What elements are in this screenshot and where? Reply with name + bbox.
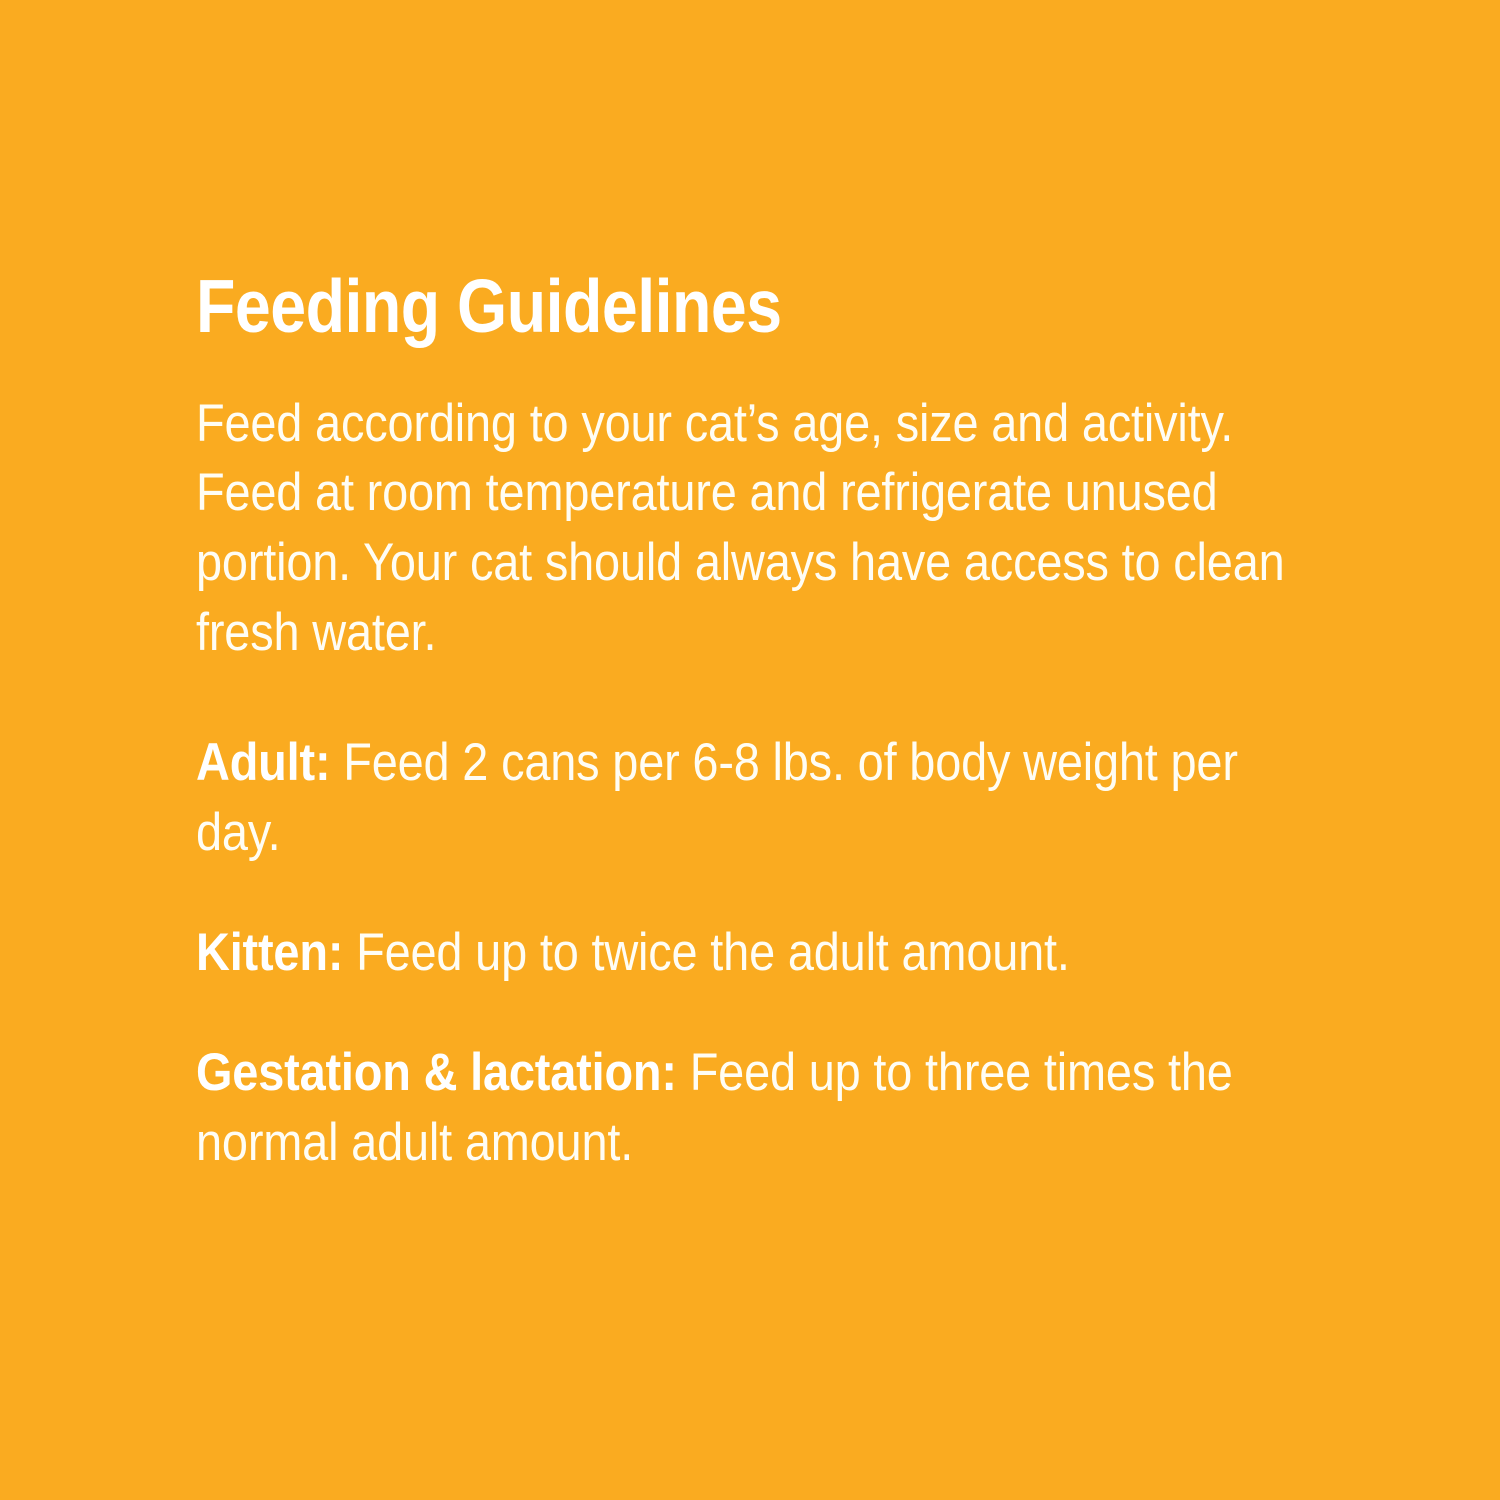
guideline-gestation-lactation-label: Gestation & lactation: [196,1043,677,1102]
guideline-adult-label: Adult: [196,733,330,792]
guideline-gestation-lactation: Gestation & lactation: Feed up to three … [196,1038,1333,1178]
feeding-guidelines-panel: Feeding Guidelines Feed according to you… [0,0,1500,1500]
guideline-adult-text: Feed 2 cans per 6-8 lbs. of body weight … [196,733,1238,862]
guideline-kitten-text: Feed up to twice the adult amount. [343,923,1070,982]
content-block: Feeding Guidelines Feed according to you… [196,268,1331,1178]
guideline-kitten: Kitten: Feed up to twice the adult amoun… [196,918,1333,988]
guideline-kitten-label: Kitten: [196,923,343,982]
page-title: Feeding Guidelines [196,268,1172,345]
guideline-adult: Adult: Feed 2 cans per 6-8 lbs. of body … [196,728,1333,868]
intro-paragraph: Feed according to your cat’s age, size a… [196,389,1333,669]
